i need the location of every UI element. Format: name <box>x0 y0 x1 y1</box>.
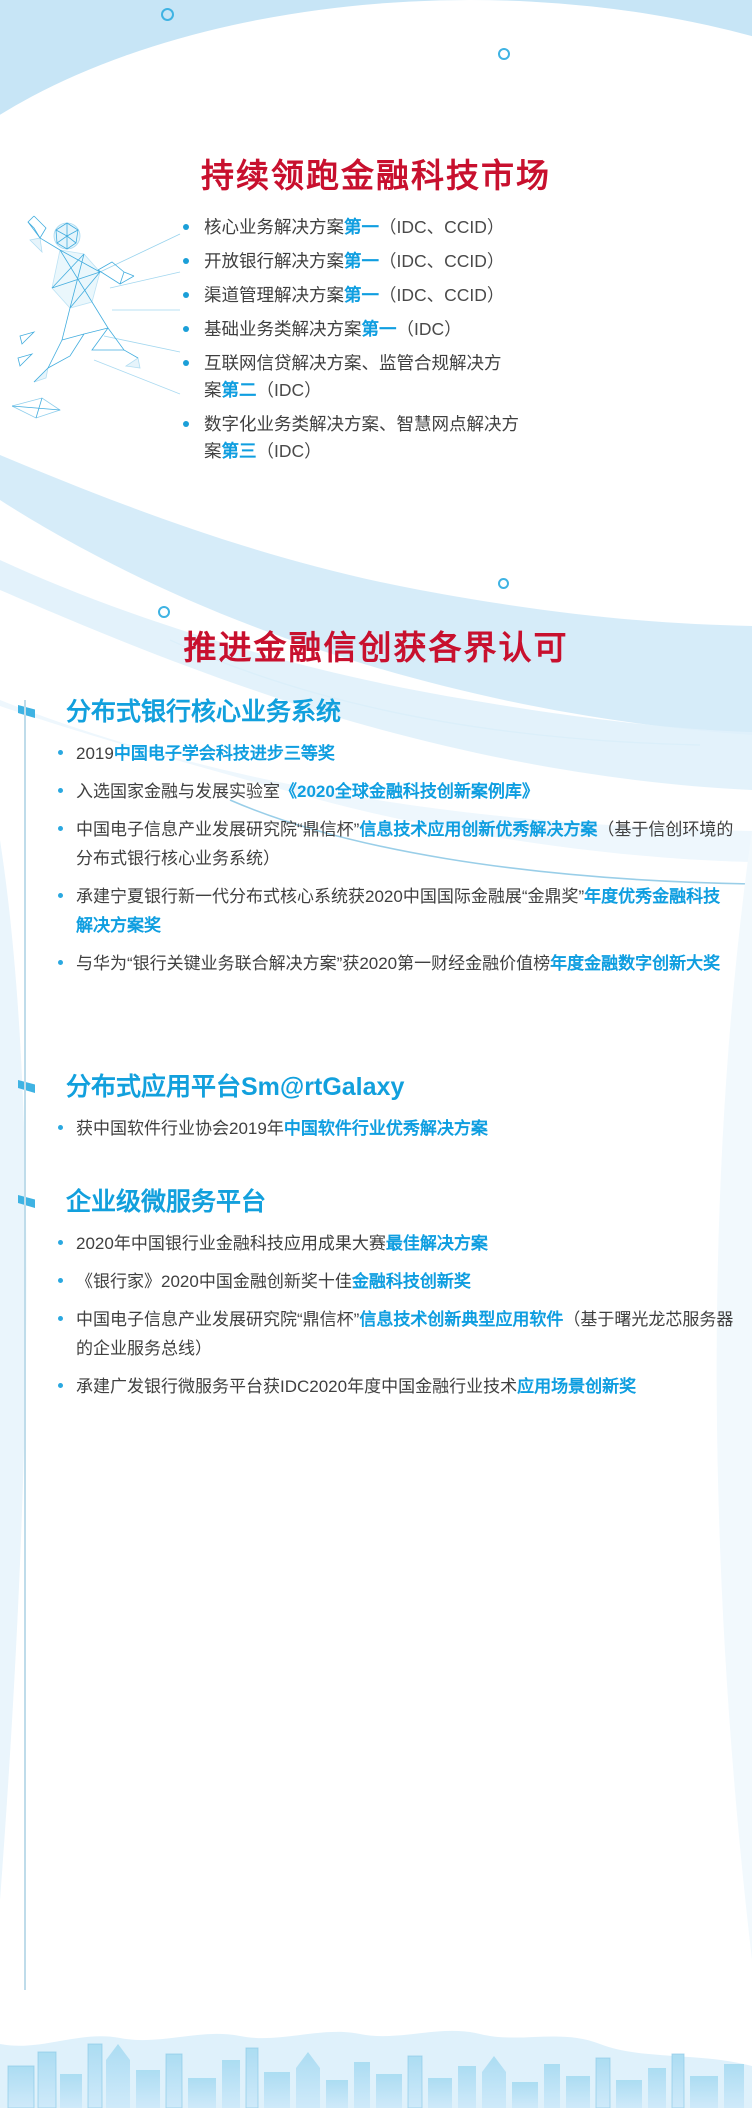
arrow-marker-icon <box>18 1195 35 1208</box>
bullet-dot-icon <box>183 326 189 332</box>
item-rank: 第一 <box>362 319 397 339</box>
bullet-dot-icon <box>58 1316 63 1321</box>
bullet-dot-icon <box>58 960 63 965</box>
list-item: 数字化业务类解决方案、智慧网点解决方案第三（IDC） <box>178 411 520 465</box>
group-core-banking: 分布式银行核心业务系统 2019中国电子学会科技进步三等奖 入选国家金融与发展实… <box>18 695 734 987</box>
award-list: 2019中国电子学会科技进步三等奖 入选国家金融与发展实验室《2020全球金融科… <box>18 739 734 978</box>
arrow-marker-icon <box>18 1080 35 1093</box>
item-text: 承建广发银行微服务平台获IDC2020年度中国金融行业技术 <box>76 1377 517 1396</box>
arrow-marker-icon <box>18 705 35 718</box>
group-smartgalaxy: 分布式应用平台Sm@rtGalaxy 获中国软件行业协会2019年中国软件行业优… <box>18 1070 734 1152</box>
list-item: 与华为“银行关键业务联合解决方案”获2020第一财经金融价值榜年度金融数字创新大… <box>56 949 734 978</box>
item-rank: 第一 <box>344 217 379 237</box>
item-rank: 第二 <box>222 380 257 400</box>
item-source: （IDC、CCID） <box>379 217 504 237</box>
list-item: 中国电子信息产业发展研究院“鼎信杯”信息技术应用创新优秀解决方案（基于信创环境的… <box>56 815 734 873</box>
list-item: 承建宁夏银行新一代分布式核心系统获2020中国国际金融展“金鼎奖”年度优秀金融科… <box>56 882 734 940</box>
item-source: （IDC） <box>257 380 322 400</box>
list-item: 互联网信贷解决方案、监管合规解决方案第二（IDC） <box>178 350 508 404</box>
item-rank: 第一 <box>344 285 379 305</box>
bullet-dot-icon <box>183 421 189 427</box>
item-source: （IDC、CCID） <box>379 285 504 305</box>
item-text: 获中国软件行业协会2019年 <box>76 1119 284 1138</box>
list-item: 开放银行解决方案第一（IDC、CCID） <box>178 248 738 275</box>
bullet-dot-icon <box>58 750 63 755</box>
bullet-dot-icon <box>58 1383 63 1388</box>
list-item: 中国电子信息产业发展研究院“鼎信杯”信息技术创新典型应用软件（基于曙光龙芯服务器… <box>56 1305 734 1363</box>
list-item: 《银行家》2020中国金融创新奖十佳金融科技创新奖 <box>56 1267 734 1296</box>
section-market-leadership: 持续领跑金融科技市场 <box>0 0 752 610</box>
bullet-dot-icon <box>58 1125 63 1130</box>
item-text: 与华为“银行关键业务联合解决方案”获2020第一财经金融价值榜 <box>76 954 550 973</box>
item-text: 2020年中国银行业金融科技应用成果大赛 <box>76 1234 386 1253</box>
bullet-dot-icon <box>183 360 189 366</box>
item-text: 中国电子信息产业发展研究院“鼎信杯” <box>76 1310 359 1329</box>
group-heading-text: 分布式应用平台Sm@rtGalaxy <box>66 1073 404 1101</box>
item-award: 《2020全球金融科技创新案例库》 <box>280 782 539 801</box>
section2-title: 推进金融信创获各界认可 <box>0 630 752 666</box>
award-list: 2020年中国银行业金融科技应用成果大赛最佳解决方案 《银行家》2020中国金融… <box>18 1229 734 1401</box>
bullet-dot-icon <box>58 893 63 898</box>
bullet-dot-icon <box>183 258 189 264</box>
item-award: 年度金融数字创新大奖 <box>550 954 720 973</box>
list-item: 入选国家金融与发展实验室《2020全球金融科技创新案例库》 <box>56 777 734 806</box>
bullet-dot-icon <box>58 1240 63 1245</box>
item-award: 信息技术创新典型应用软件 <box>359 1310 563 1329</box>
list-item: 2019中国电子学会科技进步三等奖 <box>56 739 734 768</box>
item-award: 应用场景创新奖 <box>517 1377 636 1396</box>
item-text: 入选国家金融与发展实验室 <box>76 782 280 801</box>
item-source: （IDC） <box>257 441 322 461</box>
list-item: 承建广发银行微服务平台获IDC2020年度中国金融行业技术应用场景创新奖 <box>56 1372 734 1401</box>
section-fintech-recognition: 推进金融信创获各界认可 分布式银行核心业务系统 2019中国电子学会科技进步三等… <box>0 600 752 2060</box>
item-text: 渠道管理解决方案 <box>204 285 344 305</box>
bullet-dot-icon <box>58 788 63 793</box>
award-list: 获中国软件行业协会2019年中国软件行业优秀解决方案 <box>18 1114 734 1143</box>
item-award: 金融科技创新奖 <box>352 1272 471 1291</box>
group-microservice: 企业级微服务平台 2020年中国银行业金融科技应用成果大赛最佳解决方案 《银行家… <box>18 1185 734 1410</box>
item-award: 中国电子学会科技进步三等奖 <box>114 744 335 763</box>
item-award: 中国软件行业优秀解决方案 <box>284 1119 488 1138</box>
bullet-dot-icon <box>183 292 189 298</box>
item-text: 中国电子信息产业发展研究院“鼎信杯” <box>76 820 359 839</box>
group-heading-text: 企业级微服务平台 <box>66 1188 266 1216</box>
item-text: 《银行家》2020中国金融创新奖十佳 <box>76 1272 352 1291</box>
timeline-axis <box>24 700 26 1990</box>
item-source: （IDC、CCID） <box>379 251 504 271</box>
group-heading: 分布式银行核心业务系统 <box>18 695 734 729</box>
group-heading: 分布式应用平台Sm@rtGalaxy <box>18 1070 734 1104</box>
list-item: 渠道管理解决方案第一（IDC、CCID） <box>178 282 738 309</box>
item-rank: 第三 <box>222 441 257 461</box>
bullet-dot-icon <box>183 224 189 230</box>
item-text: 基础业务类解决方案 <box>204 319 362 339</box>
running-man-wireframe-icon <box>12 210 182 430</box>
group-heading: 企业级微服务平台 <box>18 1185 734 1219</box>
item-source: （IDC） <box>397 319 462 339</box>
item-award: 最佳解决方案 <box>386 1234 488 1253</box>
list-item: 基础业务类解决方案第一（IDC） <box>178 316 738 343</box>
item-text: 开放银行解决方案 <box>204 251 344 271</box>
list-item: 2020年中国银行业金融科技应用成果大赛最佳解决方案 <box>56 1229 734 1258</box>
item-text: 2019 <box>76 744 114 763</box>
list-item: 核心业务解决方案第一（IDC、CCID） <box>178 214 738 241</box>
section1-title: 持续领跑金融科技市场 <box>0 158 752 194</box>
item-text: 承建宁夏银行新一代分布式核心系统获2020中国国际金融展“金鼎奖” <box>76 887 584 906</box>
item-rank: 第一 <box>344 251 379 271</box>
list-item: 获中国软件行业协会2019年中国软件行业优秀解决方案 <box>56 1114 734 1143</box>
item-text: 核心业务解决方案 <box>204 217 344 237</box>
bullet-dot-icon <box>58 1278 63 1283</box>
group-heading-text: 分布式银行核心业务系统 <box>66 698 341 726</box>
market-rank-list: 核心业务解决方案第一（IDC、CCID） 开放银行解决方案第一（IDC、CCID… <box>178 214 738 472</box>
bullet-dot-icon <box>58 826 63 831</box>
item-award: 信息技术应用创新优秀解决方案 <box>359 820 597 839</box>
